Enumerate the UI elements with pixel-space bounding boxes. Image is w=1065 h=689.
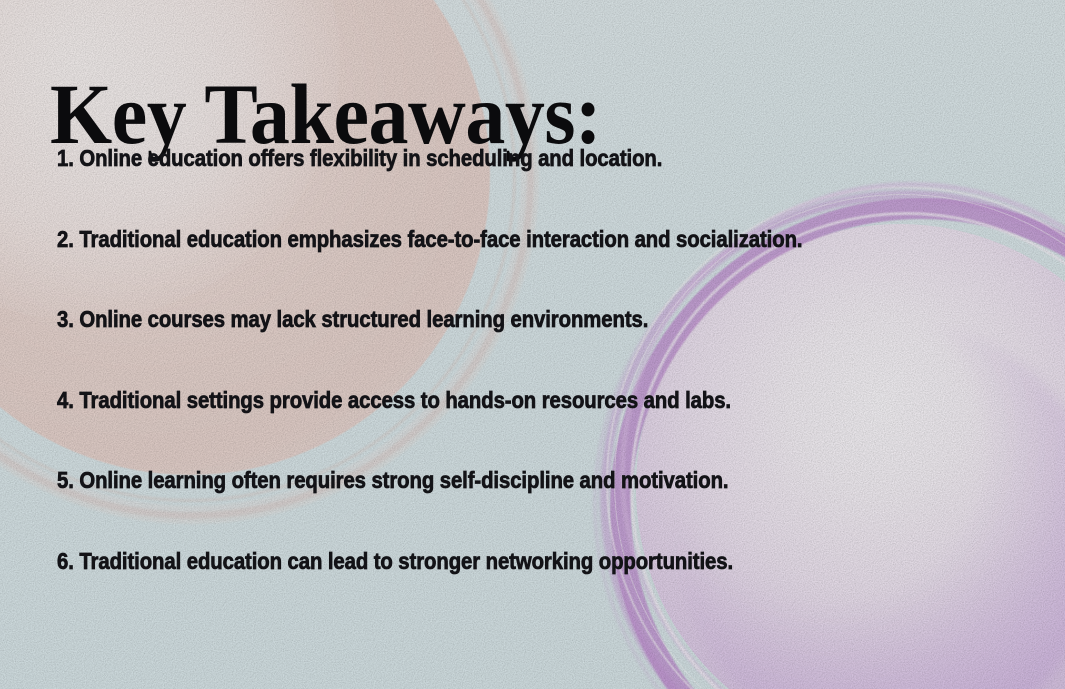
list-item: 3. Online courses may lack structured le… [57, 309, 887, 390]
list-item: 4. Traditional settings provide access t… [57, 390, 887, 471]
takeaways-list: 1. Online education offers flexibility i… [57, 148, 1017, 631]
list-item: 6. Traditional education can lead to str… [57, 551, 887, 632]
poster-content: Key Takeaways: 1. Online education offer… [0, 0, 1065, 689]
list-item: 1. Online education offers flexibility i… [57, 148, 887, 229]
list-item: 5. Online learning often requires strong… [57, 470, 887, 551]
list-item: 2. Traditional education emphasizes face… [57, 229, 887, 310]
key-takeaways-poster: Key Takeaways: 1. Online education offer… [0, 0, 1065, 689]
page-title: Key Takeaways: [50, 71, 601, 157]
